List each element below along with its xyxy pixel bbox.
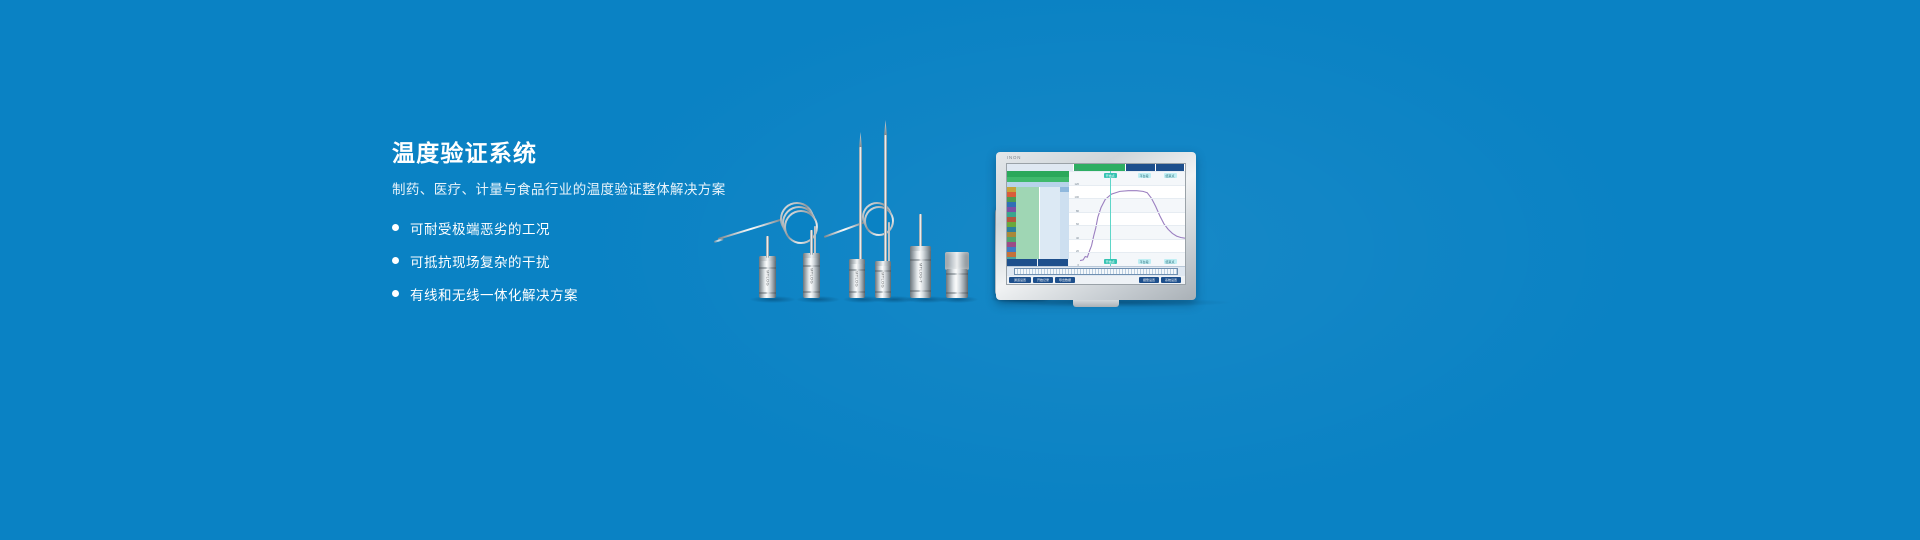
feature-list: 可耐受极端恶劣的工况 可抵抗现场复杂的干扰 有线和无线一体化解决方案 — [392, 218, 812, 304]
software-toolbar[interactable] — [1007, 164, 1185, 171]
feature-text: 可抵抗现场复杂的干扰 — [410, 251, 550, 271]
page-subtitle: 制药、医疗、计量与食品行业的温度验证整体解决方案 — [392, 182, 812, 198]
bullet-dot-icon — [392, 224, 399, 231]
chart-gridline — [1069, 185, 1185, 186]
toolbar-seg-acquire[interactable] — [1074, 164, 1125, 171]
btn-channel-settings[interactable]: 通道设置 — [1009, 277, 1031, 283]
banner-copy-block: 温度验证系统 制药、医疗、计量与食品行业的温度验证整体解决方案 可耐受极端恶劣的… — [392, 140, 812, 317]
software-action-bar[interactable]: 通道设置 开始记录 导出数据 报警设置 系统设置 — [1007, 276, 1185, 284]
data-logger-short — [946, 269, 968, 298]
chart-cursor-line[interactable] — [1110, 171, 1111, 266]
list-item: 有线和无线一体化解决方案 — [392, 284, 812, 304]
btn-system-settings[interactable]: 系统设置 — [1161, 277, 1181, 283]
channel-sidebar[interactable] — [1007, 171, 1069, 266]
page-title: 温度验证系统 — [392, 140, 812, 168]
validation-software-monitor: INON — [996, 152, 1196, 300]
software-screen: 140120100806040200 开始点开始点平台段平台段结束点结束点 通道… — [1006, 163, 1186, 285]
timeline-scrollbar[interactable] — [1007, 266, 1185, 276]
software-body: 140120100806040200 开始点开始点平台段平台段结束点结束点 — [1007, 171, 1185, 266]
feature-text: 有线和无线一体化解决方案 — [410, 284, 578, 304]
chart-gridline — [1069, 239, 1185, 240]
btn-alarm-settings[interactable]: 报警设置 — [1139, 277, 1159, 283]
toolbar-seg-file[interactable] — [1007, 164, 1073, 171]
sintered-filter-cap — [945, 252, 969, 270]
chart-gridline — [1069, 225, 1185, 226]
chart-gridline — [1069, 212, 1185, 213]
chart-annotation-marker[interactable]: 开始点 — [1104, 259, 1117, 264]
chart-gridline — [1069, 252, 1185, 253]
btn-start-record[interactable]: 开始记录 — [1033, 277, 1053, 283]
hero-banner: 温度验证系统 制药、医疗、计量与食品行业的温度验证整体解决方案 可耐受极端恶劣的… — [0, 0, 1920, 540]
data-logger: MTLOG — [849, 259, 865, 298]
chart-annotation-marker[interactable]: 平台段 — [1138, 173, 1151, 178]
chart-annotation-marker[interactable]: 平台段 — [1138, 259, 1151, 264]
toolbar-seg-report[interactable] — [1126, 164, 1154, 171]
sidebar-footer[interactable] — [1007, 259, 1069, 266]
scrollbar-thumb[interactable] — [1014, 268, 1178, 275]
data-logger: MTLOG — [875, 261, 891, 298]
chart-annotation-marker[interactable]: 开始点 — [1104, 173, 1117, 178]
list-item: 可抵抗现场复杂的干扰 — [392, 251, 812, 271]
coil-probe-secondary — [828, 180, 918, 260]
probe-stem — [919, 214, 922, 248]
data-logger-tall: MTLOG-T — [910, 246, 931, 298]
chart-gridline — [1069, 171, 1185, 172]
chart-annotation-marker[interactable]: 结束点 — [1164, 259, 1177, 264]
feature-text: 可耐受极端恶劣的工况 — [410, 218, 550, 238]
bullet-dot-icon — [392, 290, 399, 297]
chart-annotation-marker[interactable]: 结束点 — [1164, 173, 1177, 178]
monitor-stand — [1073, 300, 1119, 307]
chart-gridline — [1069, 198, 1185, 199]
list-item: 可耐受极端恶劣的工况 — [392, 218, 812, 238]
bullet-dot-icon — [392, 257, 399, 264]
btn-export-data[interactable]: 导出数据 — [1055, 277, 1075, 283]
monitor-brand: INON — [1007, 155, 1021, 160]
channel-rows[interactable] — [1007, 187, 1069, 259]
temperature-chart: 140120100806040200 开始点开始点平台段平台段结束点结束点 — [1069, 171, 1185, 266]
toolbar-seg-help[interactable] — [1156, 164, 1184, 171]
